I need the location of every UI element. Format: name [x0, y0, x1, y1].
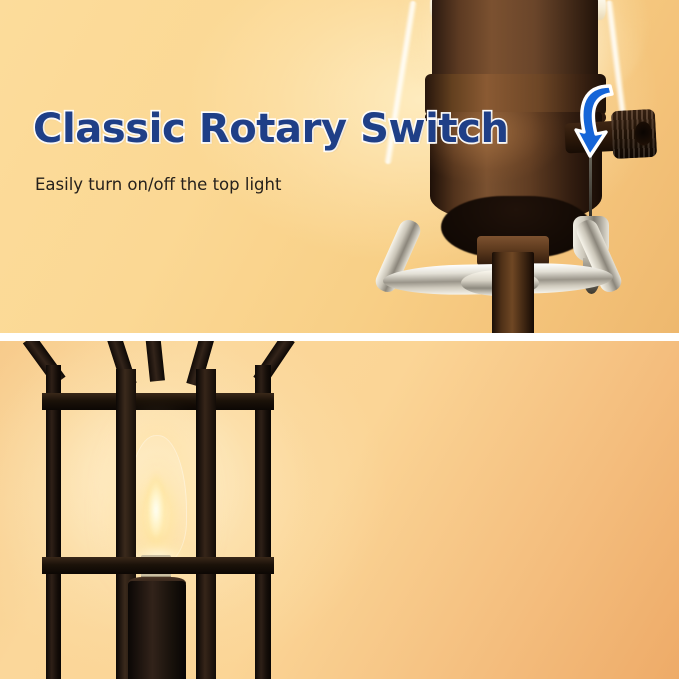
cage-post — [255, 365, 271, 679]
cage-band-middle — [42, 557, 274, 574]
subtitle-top: Easily turn on/off the top light — [35, 174, 281, 197]
cage-post — [46, 365, 61, 679]
cage-post — [196, 369, 216, 679]
panel-touch-sensitive: Touch-Sensitive Lamp Body and Base Tap a… — [0, 341, 679, 679]
lamp-socket-photo — [0, 0, 679, 333]
socket-cap — [432, 0, 598, 78]
panel-divider — [0, 333, 679, 341]
lantern-lamp-photo — [0, 341, 679, 679]
panel-rotary-switch: Classic Rotary Switch Easily turn on/off… — [0, 0, 679, 333]
feature-image: Classic Rotary Switch Easily turn on/off… — [0, 0, 679, 679]
rotate-arrow-icon — [570, 80, 630, 166]
lamp-column — [128, 581, 186, 679]
cage-band-top — [42, 393, 274, 410]
lamp-stem — [492, 252, 534, 333]
page-title-top: Classic Rotary Switch — [33, 108, 509, 150]
